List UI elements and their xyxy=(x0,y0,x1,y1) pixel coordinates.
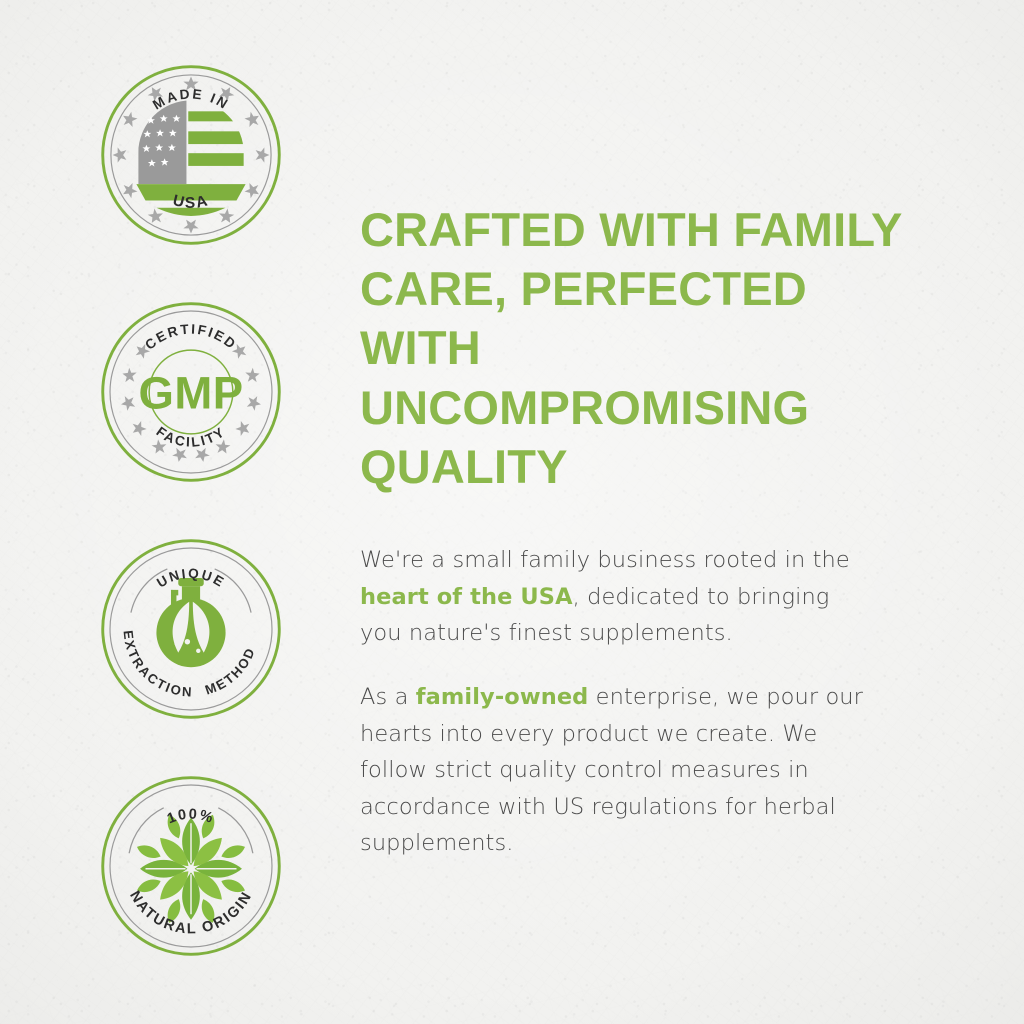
badge-bottom-label: USA xyxy=(171,192,211,212)
paragraph-text-run: We're a small family business rooted in … xyxy=(360,547,850,573)
badge-made-in-usa: MADE IN USA xyxy=(100,64,282,246)
badge-top-label: MADE IN xyxy=(150,86,232,112)
highlighted-phrase: heart of the USA xyxy=(360,584,573,610)
content-column: CRAFTED WITH FAMILY CARE, PERFECTED WITH… xyxy=(360,200,920,862)
paragraph-1: We're a small family business rooted in … xyxy=(360,542,872,651)
badge-top-label: CERTIFIED xyxy=(142,322,240,353)
trust-badge-column: MADE IN USA xyxy=(100,64,282,1012)
page-headline: CRAFTED WITH FAMILY CARE, PERFECTED WITH… xyxy=(360,200,920,496)
badge-gmp-certified-facility: GMP CERTIFIED FACILITY xyxy=(100,301,282,483)
badge-natural-origin: 100% NATURAL ORIGIN xyxy=(100,775,282,957)
leaf-flask-icon xyxy=(156,578,225,667)
badge-unique-extraction-method: UNIQUE EXTRACTION METHOD xyxy=(100,538,282,720)
marketing-panel: MADE IN USA xyxy=(0,0,1024,1024)
highlighted-phrase: family-owned xyxy=(416,684,589,710)
paragraph-text-run: As a xyxy=(360,684,416,710)
gmp-wordmark-icon: GMP xyxy=(138,367,243,418)
body-copy: We're a small family business rooted in … xyxy=(360,542,872,862)
badge-bottom-label: FACILITY xyxy=(154,424,229,450)
paragraph-2: As a family-owned enterprise, we pour ou… xyxy=(360,679,872,861)
